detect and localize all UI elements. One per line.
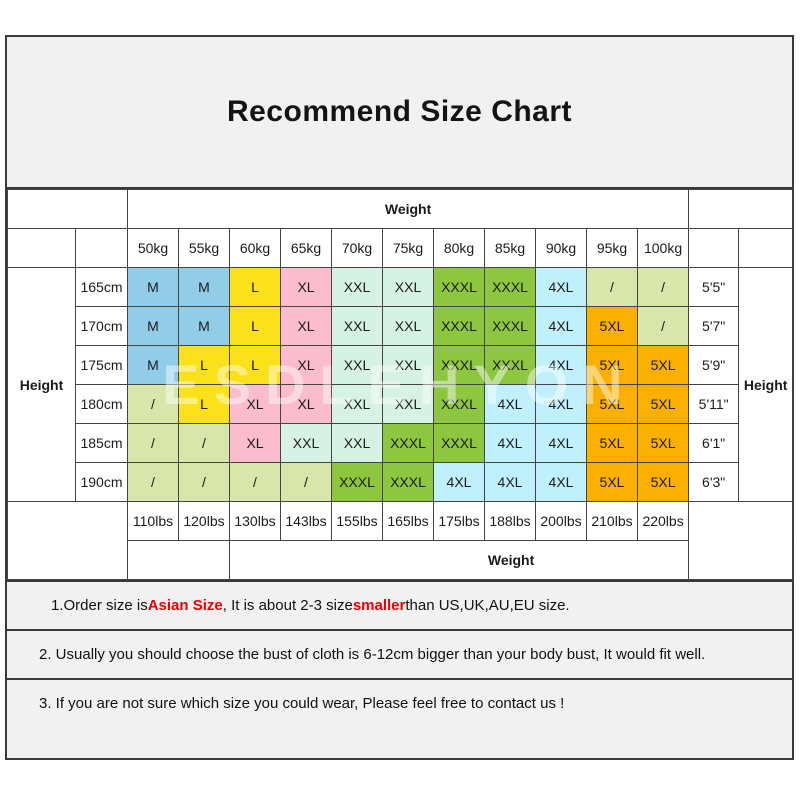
size-cell-185cm-70kg: XXL	[332, 424, 383, 463]
weight-lbs-header-4: 155lbs	[332, 502, 383, 541]
size-cell-165cm-55kg: M	[179, 268, 230, 307]
size-cell-180cm-100kg: 5XL	[638, 385, 689, 424]
height-ft-190cm: 6'3"	[689, 463, 739, 502]
size-cell-175cm-55kg: L	[179, 346, 230, 385]
size-cell-165cm-50kg: M	[128, 268, 179, 307]
note-1-part-2: , It is about 2-3 size	[223, 597, 353, 614]
title-band: Recommend Size Chart	[7, 37, 792, 189]
table-row: 190cm////XXXLXXXL4XL4XL4XL5XL5XL6'3"	[8, 463, 793, 502]
height-cm-190cm: 190cm	[76, 463, 128, 502]
note-3-part-0: 3. If you are not sure which size you co…	[39, 695, 564, 712]
size-cell-185cm-95kg: 5XL	[587, 424, 638, 463]
size-chart-card: Recommend Size Chart Weight	[5, 35, 794, 760]
note-row-1: 1.Order size is Asian Size, It is about …	[7, 580, 792, 629]
height-label-right: Height	[739, 268, 793, 502]
size-cell-175cm-65kg: XL	[281, 346, 332, 385]
weight-kg-header-1: 55kg	[179, 229, 230, 268]
blank-kg-left-1	[8, 229, 76, 268]
size-cell-180cm-50kg: /	[128, 385, 179, 424]
size-cell-175cm-80kg: XXXL	[434, 346, 485, 385]
height-ft-175cm: 5'9"	[689, 346, 739, 385]
table-row: 185cm//XLXXLXXLXXXLXXXL4XL4XL5XL5XL6'1"	[8, 424, 793, 463]
size-cell-175cm-95kg: 5XL	[587, 346, 638, 385]
size-cell-190cm-75kg: XXXL	[383, 463, 434, 502]
size-cell-170cm-95kg: 5XL	[587, 307, 638, 346]
size-cell-180cm-85kg: 4XL	[485, 385, 536, 424]
size-table: Weight 50kg55kg60kg65kg70kg75kg80kg85kg9…	[7, 189, 793, 580]
table-row: 170cmMMLXLXXLXXLXXXLXXXL4XL5XL/5'7"	[8, 307, 793, 346]
note-1-part-4: than US,UK,AU,EU size.	[405, 597, 569, 614]
corner-blank-topright	[689, 190, 793, 229]
size-cell-170cm-85kg: XXXL	[485, 307, 536, 346]
note-row-2: 2. Usually you should choose the bust of…	[7, 629, 792, 678]
weight-kg-header-9: 95kg	[587, 229, 638, 268]
height-cm-175cm: 175cm	[76, 346, 128, 385]
size-cell-180cm-70kg: XXL	[332, 385, 383, 424]
weight-kg-header-2: 60kg	[230, 229, 281, 268]
weight-lbs-header-5: 165lbs	[383, 502, 434, 541]
size-cell-180cm-60kg: XL	[230, 385, 281, 424]
weight-lbs-header-6: 175lbs	[434, 502, 485, 541]
size-cell-170cm-80kg: XXXL	[434, 307, 485, 346]
size-cell-175cm-100kg: 5XL	[638, 346, 689, 385]
size-cell-170cm-70kg: XXL	[332, 307, 383, 346]
height-ft-180cm: 5'11"	[689, 385, 739, 424]
size-cell-180cm-80kg: XXXL	[434, 385, 485, 424]
size-cell-175cm-85kg: XXXL	[485, 346, 536, 385]
weight-units-kg-row: 50kg55kg60kg65kg70kg75kg80kg85kg90kg95kg…	[8, 229, 793, 268]
table-row: 180cm/LXLXLXXLXXLXXXL4XL4XL5XL5XL5'11"	[8, 385, 793, 424]
size-cell-170cm-100kg: /	[638, 307, 689, 346]
height-label-left: Height	[8, 268, 76, 502]
weight-kg-header-7: 85kg	[485, 229, 536, 268]
weight-lbs-header-7: 188lbs	[485, 502, 536, 541]
size-cell-165cm-90kg: 4XL	[536, 268, 587, 307]
notes-section: 1.Order size is Asian Size, It is about …	[7, 580, 792, 727]
size-cell-185cm-75kg: XXXL	[383, 424, 434, 463]
height-ft-185cm: 6'1"	[689, 424, 739, 463]
size-cell-180cm-75kg: XXL	[383, 385, 434, 424]
size-cell-170cm-55kg: M	[179, 307, 230, 346]
note-1-part-3-highlight: smaller	[353, 597, 406, 614]
size-cell-185cm-65kg: XXL	[281, 424, 332, 463]
size-cell-165cm-75kg: XXL	[383, 268, 434, 307]
size-cell-165cm-70kg: XXL	[332, 268, 383, 307]
weight-kg-header-10: 100kg	[638, 229, 689, 268]
size-cell-185cm-100kg: 5XL	[638, 424, 689, 463]
size-cell-175cm-90kg: 4XL	[536, 346, 587, 385]
size-cell-185cm-90kg: 4XL	[536, 424, 587, 463]
height-cm-185cm: 185cm	[76, 424, 128, 463]
size-cell-190cm-65kg: /	[281, 463, 332, 502]
size-cell-170cm-60kg: L	[230, 307, 281, 346]
weight-lbs-header-1: 120lbs	[179, 502, 230, 541]
height-ft-165cm: 5'5"	[689, 268, 739, 307]
size-cell-165cm-65kg: XL	[281, 268, 332, 307]
size-cell-165cm-60kg: L	[230, 268, 281, 307]
weight-units-lbs-row: 110lbs120lbs130lbs143lbs155lbs165lbs175l…	[8, 502, 793, 541]
size-cell-165cm-95kg: /	[587, 268, 638, 307]
weight-lbs-header-0: 110lbs	[128, 502, 179, 541]
size-cell-165cm-100kg: /	[638, 268, 689, 307]
height-ft-170cm: 5'7"	[689, 307, 739, 346]
height-cm-180cm: 180cm	[76, 385, 128, 424]
table-row: Height165cmMMLXLXXLXXLXXXLXXXL4XL//5'5"H…	[8, 268, 793, 307]
size-cell-165cm-85kg: XXXL	[485, 268, 536, 307]
size-cell-180cm-90kg: 4XL	[536, 385, 587, 424]
blank-kg-right-2	[739, 229, 793, 268]
size-cell-165cm-80kg: XXXL	[434, 268, 485, 307]
size-cell-185cm-50kg: /	[128, 424, 179, 463]
size-cell-190cm-70kg: XXXL	[332, 463, 383, 502]
blank-lbs-left	[8, 502, 128, 580]
size-cell-170cm-75kg: XXL	[383, 307, 434, 346]
height-cm-165cm: 165cm	[76, 268, 128, 307]
weight-header-top: Weight	[128, 190, 689, 229]
table-row: 175cmMLLXLXXLXXLXXXLXXXL4XL5XL5XL5'9"	[8, 346, 793, 385]
size-cell-190cm-85kg: 4XL	[485, 463, 536, 502]
size-cell-185cm-55kg: /	[179, 424, 230, 463]
weight-banner-row: Weight	[8, 190, 793, 229]
weight-lbs-header-10: 220lbs	[638, 502, 689, 541]
size-cell-170cm-50kg: M	[128, 307, 179, 346]
corner-blank-topleft	[8, 190, 128, 229]
size-cell-185cm-85kg: 4XL	[485, 424, 536, 463]
size-cell-190cm-95kg: 5XL	[587, 463, 638, 502]
weight-kg-header-0: 50kg	[128, 229, 179, 268]
size-table-body: Weight 50kg55kg60kg65kg70kg75kg80kg85kg9…	[8, 190, 793, 580]
height-cm-170cm: 170cm	[76, 307, 128, 346]
weight-kg-header-5: 75kg	[383, 229, 434, 268]
size-cell-185cm-60kg: XL	[230, 424, 281, 463]
page-title: Recommend Size Chart	[227, 95, 572, 129]
size-cell-185cm-80kg: XXXL	[434, 424, 485, 463]
size-cell-175cm-75kg: XXL	[383, 346, 434, 385]
size-cell-190cm-55kg: /	[179, 463, 230, 502]
note-row-3: 3. If you are not sure which size you co…	[7, 678, 792, 727]
size-table-wrapper: Weight 50kg55kg60kg65kg70kg75kg80kg85kg9…	[7, 189, 792, 580]
size-cell-180cm-95kg: 5XL	[587, 385, 638, 424]
size-cell-180cm-55kg: L	[179, 385, 230, 424]
size-cell-180cm-65kg: XL	[281, 385, 332, 424]
size-cell-190cm-100kg: 5XL	[638, 463, 689, 502]
weight-kg-header-8: 90kg	[536, 229, 587, 268]
weight-lbs-header-2: 130lbs	[230, 502, 281, 541]
size-cell-190cm-80kg: 4XL	[434, 463, 485, 502]
weight-lbs-header-3: 143lbs	[281, 502, 332, 541]
size-cell-175cm-50kg: M	[128, 346, 179, 385]
size-cell-170cm-90kg: 4XL	[536, 307, 587, 346]
size-cell-175cm-60kg: L	[230, 346, 281, 385]
blank-kg-right-1	[689, 229, 739, 268]
weight-kg-header-3: 65kg	[281, 229, 332, 268]
note-2-part-0: 2. Usually you should choose the bust of…	[39, 646, 705, 663]
weight-header-bottom: Weight	[230, 541, 793, 580]
blank-kg-left-2	[76, 229, 128, 268]
size-cell-190cm-90kg: 4XL	[536, 463, 587, 502]
weight-lbs-header-9: 210lbs	[587, 502, 638, 541]
size-cell-190cm-60kg: /	[230, 463, 281, 502]
note-1-part-0: 1.Order size is	[51, 597, 148, 614]
corner-blank-bottomleft	[128, 541, 230, 580]
weight-lbs-header-8: 200lbs	[536, 502, 587, 541]
weight-kg-header-6: 80kg	[434, 229, 485, 268]
weight-kg-header-4: 70kg	[332, 229, 383, 268]
size-cell-175cm-70kg: XXL	[332, 346, 383, 385]
size-cell-170cm-65kg: XL	[281, 307, 332, 346]
note-1-part-1-highlight: Asian Size	[148, 597, 223, 614]
size-cell-190cm-50kg: /	[128, 463, 179, 502]
